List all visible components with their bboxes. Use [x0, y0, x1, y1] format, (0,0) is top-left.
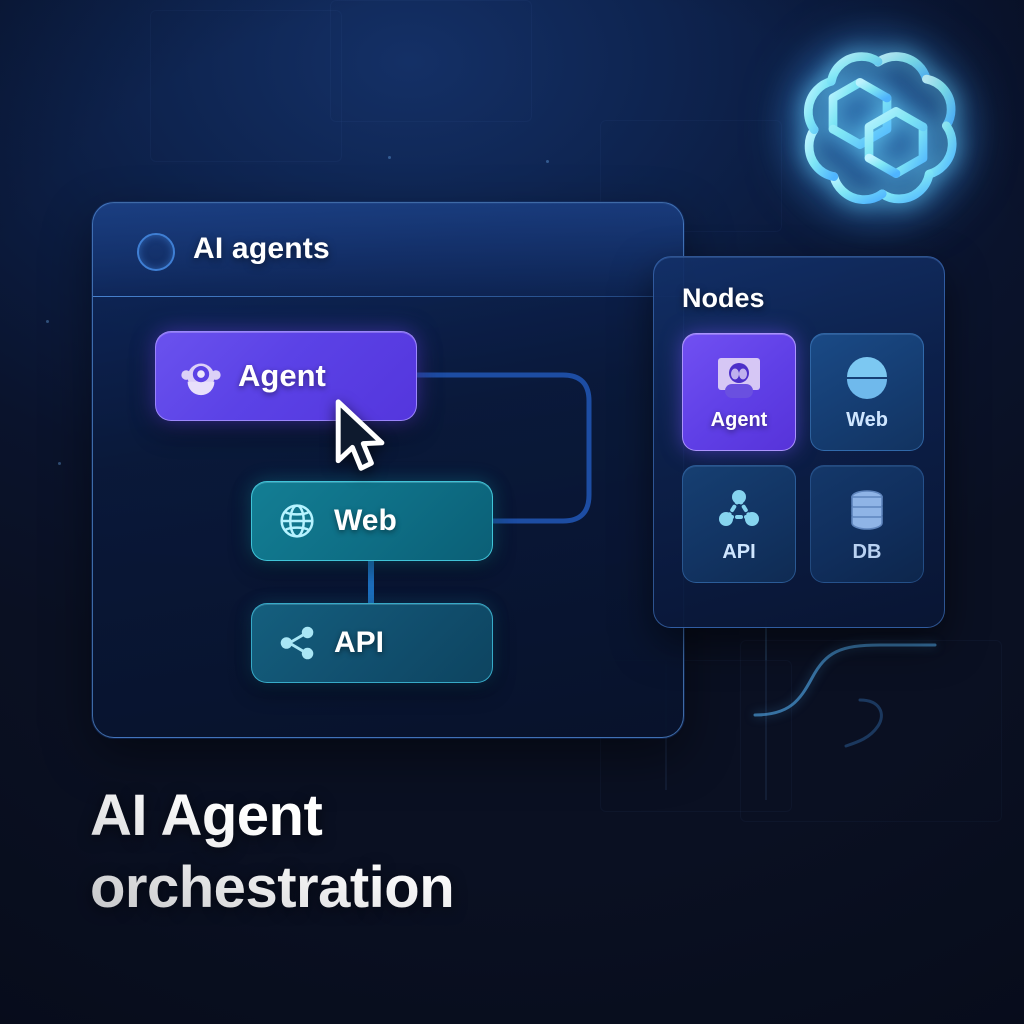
vignette-overlay	[0, 0, 1024, 1024]
screenshot-stage: AI agents Agent	[0, 0, 1024, 1024]
